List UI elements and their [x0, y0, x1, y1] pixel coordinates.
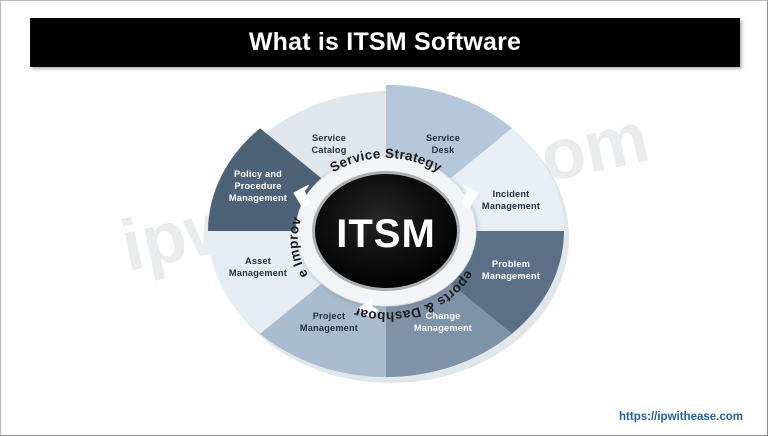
page-root: What is ITSM Software ipwithease.com: [0, 0, 768, 436]
label-service-catalog-line2: Catalog: [311, 145, 346, 155]
footer-url[interactable]: https://ipwithease.com: [619, 411, 743, 423]
core-label: ITSM: [336, 212, 436, 256]
label-incident-management-line1: Incident: [493, 189, 530, 199]
label-change-management-line2: Management: [414, 323, 472, 333]
label-policy-procedure-line1: Policy and: [234, 169, 282, 179]
label-problem-management-line1: Problem: [492, 259, 530, 269]
core-group[interactable]: ITSM: [312, 171, 460, 291]
label-asset-management-line2: Management: [229, 268, 287, 278]
title-banner: What is ITSM Software: [30, 18, 740, 67]
label-service-catalog-line1: Service: [312, 133, 346, 143]
itsm-wheel-svg: Service Catalog Service Desk Incident Ma…: [186, 71, 586, 391]
label-incident-management-line2: Management: [482, 201, 540, 211]
page-title: What is ITSM Software: [249, 28, 521, 57]
label-policy-procedure-line2: Procedure: [234, 181, 281, 191]
label-asset-management-line1: Asset: [245, 256, 271, 266]
label-project-management-line2: Management: [300, 323, 358, 333]
label-policy-procedure-line3: Management: [229, 193, 287, 203]
label-service-desk-line1: Service: [426, 133, 460, 143]
label-problem-management-line2: Management: [482, 271, 540, 281]
itsm-wheel-diagram: Service Catalog Service Desk Incident Ma…: [186, 71, 586, 391]
label-project-management-line1: Project: [313, 311, 346, 321]
label-service-desk-line2: Desk: [432, 145, 455, 155]
